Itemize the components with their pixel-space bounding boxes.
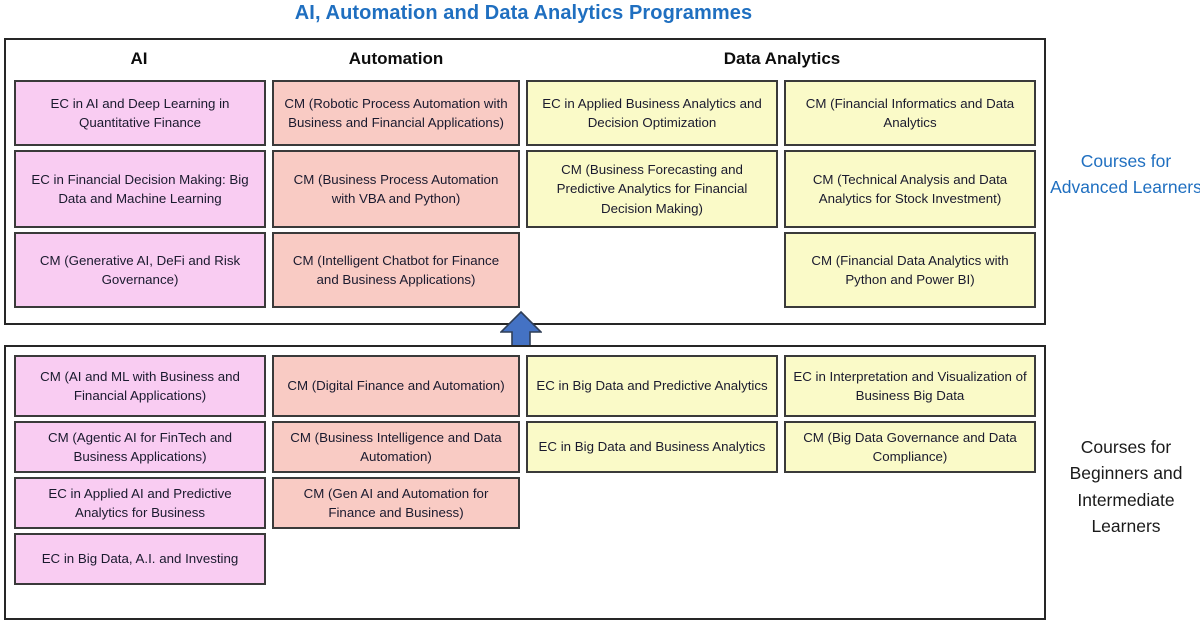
- side-label-beginner: Courses for Beginners and Intermediate L…: [1050, 434, 1200, 539]
- course-card[interactable]: EC in Applied AI and Predictive Analytic…: [14, 477, 266, 529]
- course-card[interactable]: EC in Big Data and Business Analytics: [526, 421, 778, 473]
- course-card[interactable]: CM (Business Intelligence and Data Autom…: [272, 421, 520, 473]
- course-card[interactable]: CM (Big Data Governance and Data Complia…: [784, 421, 1036, 473]
- course-card[interactable]: CM (Digital Finance and Automation): [272, 355, 520, 417]
- course-card[interactable]: CM (Financial Informatics and Data Analy…: [784, 80, 1036, 146]
- course-card[interactable]: CM (Financial Data Analytics with Python…: [784, 232, 1036, 308]
- advanced-courses-section: AI Automation Data Analytics EC in AI an…: [4, 38, 1046, 325]
- course-card[interactable]: CM (Business Process Automation with VBA…: [272, 150, 520, 228]
- course-card[interactable]: CM (Generative AI, DeFi and Risk Governa…: [14, 232, 266, 308]
- page-title: AI, Automation and Data Analytics Progra…: [0, 2, 1047, 25]
- advanced-cells-grid: EC in AI and Deep Learning in Quantitati…: [6, 40, 1044, 323]
- beginner-cells-grid: CM (AI and ML with Business and Financia…: [6, 347, 1044, 618]
- course-card[interactable]: CM (Agentic AI for FinTech and Business …: [14, 421, 266, 473]
- course-card[interactable]: CM (Robotic Process Automation with Busi…: [272, 80, 520, 146]
- course-card[interactable]: EC in Interpretation and Visualization o…: [784, 355, 1036, 417]
- course-card[interactable]: EC in AI and Deep Learning in Quantitati…: [14, 80, 266, 146]
- course-card[interactable]: CM (Business Forecasting and Predictive …: [526, 150, 778, 228]
- course-card[interactable]: EC in Applied Business Analytics and Dec…: [526, 80, 778, 146]
- course-card[interactable]: EC in Big Data and Predictive Analytics: [526, 355, 778, 417]
- course-card[interactable]: CM (Intelligent Chatbot for Finance and …: [272, 232, 520, 308]
- course-card[interactable]: CM (AI and ML with Business and Financia…: [14, 355, 266, 417]
- side-label-advanced: Courses for Advanced Learners: [1050, 148, 1200, 201]
- beginner-courses-section: CM (AI and ML with Business and Financia…: [4, 345, 1046, 620]
- course-card[interactable]: CM (Gen AI and Automation for Finance an…: [272, 477, 520, 529]
- course-card[interactable]: EC in Financial Decision Making: Big Dat…: [14, 150, 266, 228]
- course-card[interactable]: EC in Big Data, A.I. and Investing: [14, 533, 266, 585]
- course-card[interactable]: CM (Technical Analysis and Data Analytic…: [784, 150, 1036, 228]
